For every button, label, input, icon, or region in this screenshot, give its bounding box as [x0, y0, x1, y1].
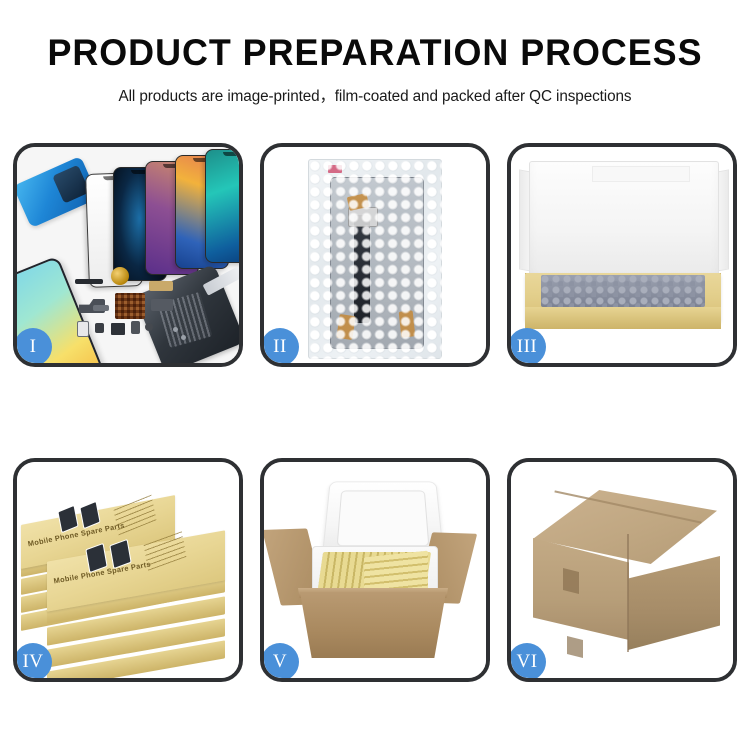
- sim-tray: [77, 321, 89, 337]
- step-4-photo: Mobile Phone Spare Parts Mobile Phone Sp…: [17, 462, 239, 678]
- small-part-6: [93, 305, 109, 311]
- page-subtitle: All products are image-printed，film-coat…: [0, 71, 750, 106]
- small-part-5: [145, 323, 153, 331]
- page-header: PRODUCT PREPARATION PROCESS All products…: [0, 0, 750, 106]
- carton-tape-lower: [567, 636, 583, 658]
- step-badge-6: VI: [508, 643, 546, 681]
- process-step-3: III: [507, 143, 737, 367]
- box-stack: Mobile Phone Spare Parts Mobile Phone Sp…: [19, 488, 239, 664]
- box-lid-white: [529, 161, 719, 287]
- qc-label: [328, 165, 342, 173]
- screw-2: [181, 335, 186, 340]
- adhesive-tape-2: [336, 314, 355, 340]
- process-step-6: VI: [507, 458, 737, 682]
- process-step-grid: I II: [13, 143, 737, 682]
- process-step-5: V: [260, 458, 490, 682]
- step-3-photo: [511, 147, 733, 363]
- process-step-2: II: [260, 143, 490, 367]
- step-badge-3: III: [508, 328, 546, 366]
- step-badge-5: V: [261, 643, 299, 681]
- flex-cable-2: [149, 281, 173, 291]
- box-tray-front: [525, 307, 721, 329]
- process-step-1: I: [13, 143, 243, 367]
- product-preparation-infographic: PRODUCT PREPARATION PROCESS All products…: [0, 0, 750, 750]
- screw-1: [173, 327, 178, 332]
- step-6-photo: [511, 462, 733, 678]
- carton-tape-upper: [563, 568, 579, 594]
- carton-body: [300, 592, 446, 658]
- carton-vertical-edge: [627, 534, 629, 652]
- phone-screen-teal: [205, 149, 239, 263]
- bubble-wrap-bag: [308, 159, 442, 359]
- small-part-4: [131, 321, 140, 334]
- chip-array: [115, 293, 145, 319]
- small-parts-cluster: [69, 265, 189, 361]
- adhesive-tape-3: [399, 310, 416, 337]
- speaker-strip: [75, 279, 103, 284]
- step-badge-1: I: [14, 328, 52, 366]
- step-badge-4: IV: [14, 643, 52, 681]
- flex-cable-3: [151, 299, 173, 311]
- foam-case-lid-inner: [337, 491, 430, 547]
- process-step-4: Mobile Phone Spare Parts Mobile Phone Sp…: [13, 458, 243, 682]
- camera-module: [111, 323, 125, 335]
- step-badge-2: II: [261, 328, 299, 366]
- screen-flex-cable: [354, 215, 370, 323]
- box-lid-tab: [592, 166, 690, 182]
- small-part-2: [95, 323, 104, 333]
- wireless-charging-coil: [111, 267, 129, 285]
- protective-foam: [541, 275, 705, 307]
- page-title: PRODUCT PREPARATION PROCESS: [11, 0, 739, 71]
- step-2-photo: [264, 147, 486, 363]
- step-1-photo: [17, 147, 239, 363]
- step-5-photo: [264, 462, 486, 678]
